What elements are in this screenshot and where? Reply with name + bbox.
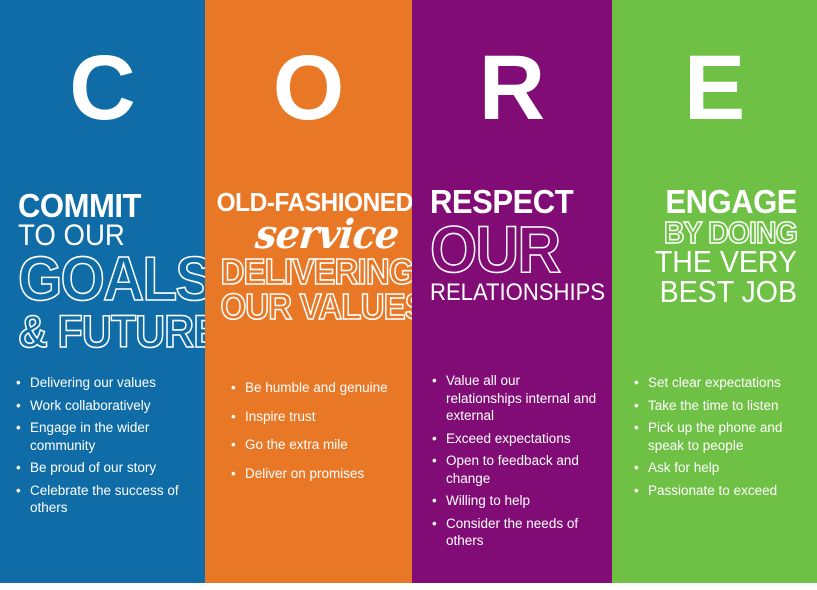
list-item-text: Consider the needs of others: [446, 516, 578, 549]
bullet-icon: •: [432, 515, 437, 533]
list-item: •Deliver on promises: [229, 465, 396, 483]
headline-line-2: BY DOING: [627, 218, 797, 248]
bullet-list-engage: •Set clear expectations •Take the time t…: [612, 374, 817, 504]
list-item: •Go the extra mile: [229, 436, 396, 454]
list-item-text: Be humble and genuine: [245, 380, 388, 395]
list-item: •Inspire trust: [229, 408, 396, 426]
headline-line-3: THE VERY: [627, 247, 797, 277]
list-item-text: Set clear expectations: [648, 375, 781, 390]
list-item-text: Inspire trust: [245, 409, 316, 424]
core-letter-r: R: [412, 42, 612, 134]
list-item-text: Open to feedback and change: [446, 453, 579, 486]
list-item-text: Pick up the phone and speak to people: [648, 420, 782, 453]
list-item: •Consider the needs of others: [430, 515, 598, 550]
bullet-icon: •: [231, 379, 236, 397]
headline-engage: ENGAGE BY DOING THE VERY BEST JOB: [612, 186, 817, 307]
headline-line-3: DELIVERING: [220, 255, 398, 290]
headline-line-3: RELATIONSHIPS: [430, 281, 597, 304]
list-item: •Celebrate the success of others: [14, 482, 189, 517]
column-commit: C COMMIT TO OUR GOALS & FUTURE •Deliveri…: [0, 0, 205, 583]
headline-script-word: service: [253, 215, 400, 255]
list-item-text: Take the time to listen: [648, 398, 779, 413]
list-item-text: Delivering our values: [30, 375, 156, 390]
bullet-icon: •: [16, 482, 21, 500]
bullet-icon: •: [432, 372, 437, 390]
bullet-icon: •: [231, 408, 236, 426]
bullet-icon: •: [634, 397, 639, 415]
list-item-text: Willing to help: [446, 493, 530, 508]
headline-line-1: COMMIT: [18, 190, 194, 222]
list-item-text: Value all our relationships internal and…: [446, 373, 596, 423]
headline-line-2: service: [205, 215, 398, 255]
list-item-text: Ask for help: [648, 460, 719, 475]
bullet-list-commit: •Delivering our values •Work collaborati…: [0, 374, 205, 522]
core-letter-c: C: [0, 42, 205, 134]
column-engage: E ENGAGE BY DOING THE VERY BEST JOB •Set…: [612, 0, 817, 583]
list-item: •Work collaboratively: [14, 397, 189, 415]
headline-line-4: BEST JOB: [627, 277, 797, 307]
headline-old-fashioned: OLD-FASHIONED service DELIVERING OUR VAL…: [205, 190, 412, 324]
column-old-fashioned: O OLD-FASHIONED service DELIVERING OUR V…: [205, 0, 412, 583]
headline-line-2: OUR: [430, 218, 597, 281]
headline-line-4: OUR VALUES: [220, 290, 398, 325]
list-item-text: Celebrate the success of others: [30, 483, 179, 516]
list-item-text: Deliver on promises: [245, 466, 364, 481]
list-item-text: Passionate to exceed: [648, 483, 777, 498]
list-item: •Pick up the phone and speak to people: [632, 419, 803, 454]
list-item-text: Exceed expectations: [446, 431, 571, 446]
list-item: •Passionate to exceed: [632, 482, 803, 500]
bullet-icon: •: [16, 419, 21, 437]
bullet-icon: •: [432, 452, 437, 470]
bullet-icon: •: [432, 430, 437, 448]
bullet-icon: •: [634, 459, 639, 477]
list-item: •Exceed expectations: [430, 430, 598, 448]
list-item-text: Be proud of our story: [30, 460, 156, 475]
list-item: •Open to feedback and change: [430, 452, 598, 487]
headline-line-3: GOALS: [18, 250, 190, 310]
list-item: •Ask for help: [632, 459, 803, 477]
headline-line-1: ENGAGE: [623, 186, 797, 218]
core-values-poster: C COMMIT TO OUR GOALS & FUTURE •Deliveri…: [0, 0, 817, 590]
list-item: •Delivering our values: [14, 374, 189, 392]
list-item: •Engage in the wider community: [14, 419, 189, 454]
list-item-text: Engage in the wider community: [30, 420, 149, 453]
list-item: •Be proud of our story: [14, 459, 189, 477]
core-letter-o: O: [205, 42, 412, 134]
bullet-list-old-fashioned: •Be humble and genuine •Inspire trust •G…: [205, 379, 412, 493]
list-item: •Set clear expectations: [632, 374, 803, 392]
list-item: •Take the time to listen: [632, 397, 803, 415]
list-item-text: Go the extra mile: [245, 437, 348, 452]
list-item: •Willing to help: [430, 492, 598, 510]
bullet-icon: •: [432, 492, 437, 510]
bullet-icon: •: [634, 482, 639, 500]
core-letter-e: E: [612, 42, 817, 134]
list-item: •Value all our relationships internal an…: [430, 372, 598, 425]
bullet-icon: •: [634, 374, 639, 392]
bullet-icon: •: [16, 397, 21, 415]
bullet-icon: •: [634, 419, 639, 437]
bullet-icon: •: [231, 465, 236, 483]
headline-line-4: & FUTURE: [18, 310, 190, 353]
headline-commit: COMMIT TO OUR GOALS & FUTURE: [0, 190, 205, 353]
column-respect: R RESPECT OUR RELATIONSHIPS •Value all o…: [412, 0, 612, 583]
bullet-icon: •: [231, 436, 236, 454]
bullet-icon: •: [16, 459, 21, 477]
bullet-list-respect: •Value all our relationships internal an…: [412, 372, 612, 555]
headline-respect: RESPECT OUR RELATIONSHIPS: [412, 186, 612, 304]
bullet-icon: •: [16, 374, 21, 392]
list-item-text: Work collaboratively: [30, 398, 151, 413]
list-item: •Be humble and genuine: [229, 379, 396, 397]
